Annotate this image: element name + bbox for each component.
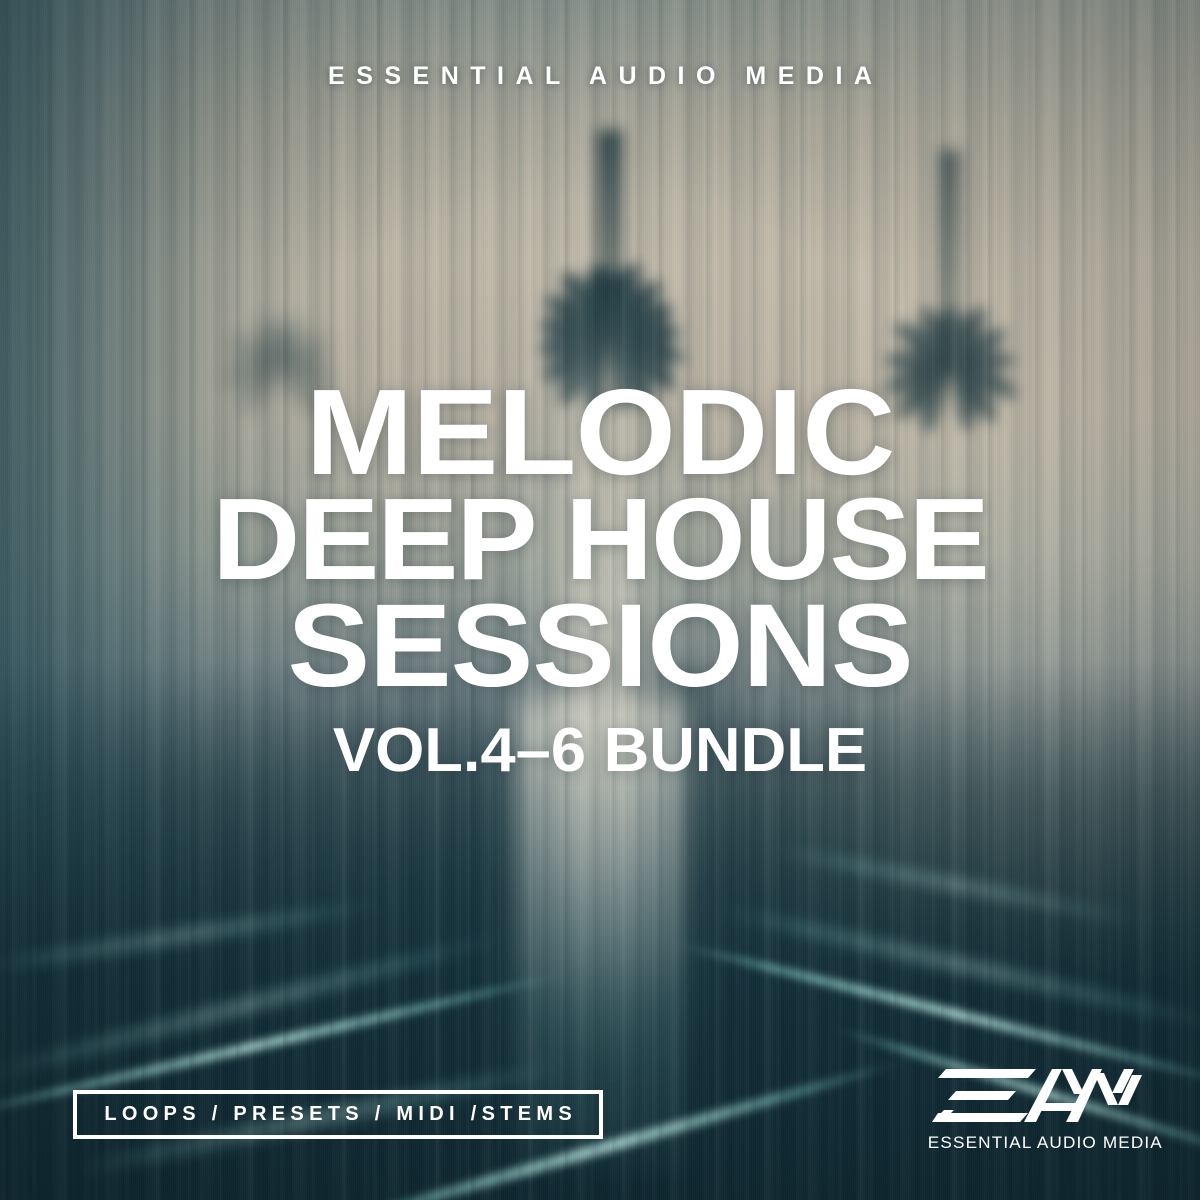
eam-logo-subtitle: ESSENTIAL AUDIO MEDIA	[928, 1134, 1146, 1153]
eam-logo: ESSENTIAL AUDIO MEDIA	[932, 1063, 1142, 1155]
title-line-sessions: SESSIONS	[0, 592, 1200, 701]
formats-badge: LOOPS / PRESETS / MIDI /STEMS	[73, 1090, 603, 1139]
formats-badge-label: LOOPS / PRESETS / MIDI /STEMS	[99, 1103, 577, 1126]
brand-name-header: ESSENTIAL AUDIO MEDIA	[0, 62, 1200, 91]
title-line-melodic: MELODIC	[0, 376, 1200, 488]
subtitle-volume-bundle: VOL.4–6 BUNDLE	[0, 722, 1200, 779]
album-cover-artwork: ESSENTIAL AUDIO MEDIA MELODIC DEEP HOUSE…	[0, 0, 1200, 1200]
title-line-deep-house: DEEP HOUSE	[0, 486, 1200, 593]
